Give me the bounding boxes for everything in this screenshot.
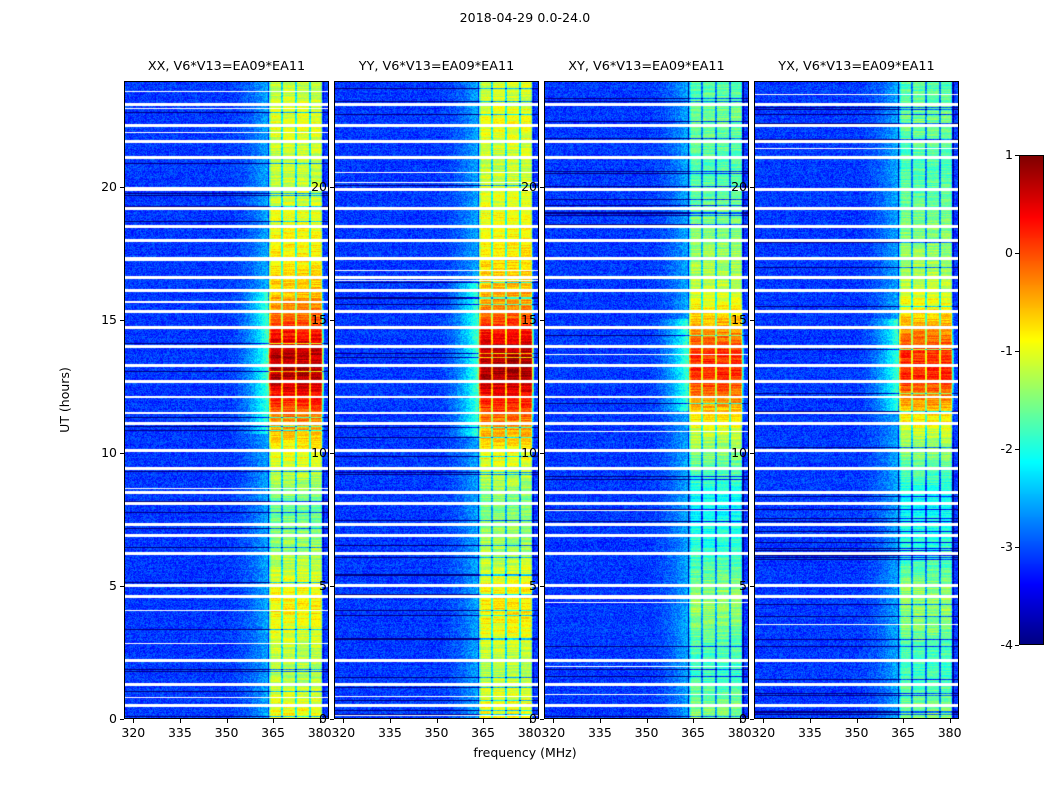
colorbar-tick-label--1: -1 <box>971 343 1013 358</box>
x-tick-mark <box>903 719 904 723</box>
y-tick-mark <box>750 586 754 587</box>
y-axis-label: UT (hours) <box>57 367 72 433</box>
x-tick-mark <box>483 719 484 723</box>
x-tick-label-365: 365 <box>463 725 503 740</box>
y-tick-label-0: 0 <box>504 711 537 726</box>
x-tick-mark <box>343 719 344 723</box>
colorbar-tick-label--2: -2 <box>971 441 1013 456</box>
panel-title-yy: YY, V6*V13=EA09*EA11 <box>334 59 539 74</box>
colorbar-tick-mark <box>1015 253 1019 254</box>
colorbar-tick-mark <box>1015 155 1019 156</box>
y-tick-label-15: 15 <box>294 312 327 327</box>
y-tick-label-10: 10 <box>714 445 747 460</box>
x-tick-label-320: 320 <box>533 725 573 740</box>
y-tick-label-5: 5 <box>714 578 747 593</box>
x-tick-mark <box>227 719 228 723</box>
y-tick-mark <box>750 719 754 720</box>
panel-title-yx: YX, V6*V13=EA09*EA11 <box>754 59 959 74</box>
y-tick-mark <box>750 320 754 321</box>
colorbar-tick-mark <box>1015 645 1019 646</box>
colorbar-tick-label-0: 0 <box>971 245 1013 260</box>
x-tick-mark <box>810 719 811 723</box>
y-tick-label-10: 10 <box>84 445 117 460</box>
x-tick-mark <box>273 719 274 723</box>
x-tick-label-320: 320 <box>743 725 783 740</box>
x-tick-label-380: 380 <box>930 725 970 740</box>
x-tick-mark <box>553 719 554 723</box>
x-tick-label-335: 335 <box>790 725 830 740</box>
y-tick-mark <box>120 719 124 720</box>
x-tick-label-335: 335 <box>580 725 620 740</box>
y-tick-mark <box>540 719 544 720</box>
x-tick-mark <box>857 719 858 723</box>
y-tick-label-15: 15 <box>84 312 117 327</box>
y-tick-label-15: 15 <box>714 312 747 327</box>
y-tick-label-20: 20 <box>504 179 537 194</box>
x-tick-mark <box>950 719 951 723</box>
y-tick-mark <box>330 453 334 454</box>
y-tick-mark <box>540 586 544 587</box>
panel-title-xy: XY, V6*V13=EA09*EA11 <box>544 59 749 74</box>
colorbar-tick-label--3: -3 <box>971 539 1013 554</box>
y-tick-mark <box>540 453 544 454</box>
waterfall-panel-xx[interactable] <box>124 81 329 719</box>
y-tick-mark <box>120 187 124 188</box>
colorbar-tick-label-1: 1 <box>971 147 1013 162</box>
x-tick-mark <box>437 719 438 723</box>
x-tick-label-335: 335 <box>370 725 410 740</box>
colorbar-tick-mark <box>1015 449 1019 450</box>
colorbar-tick-label--4: -4 <box>971 637 1013 652</box>
y-tick-label-10: 10 <box>294 445 327 460</box>
x-tick-mark <box>693 719 694 723</box>
y-tick-mark <box>120 453 124 454</box>
y-tick-mark <box>330 586 334 587</box>
x-tick-mark <box>763 719 764 723</box>
colorbar-tick-mark <box>1015 547 1019 548</box>
y-tick-label-20: 20 <box>84 179 117 194</box>
x-tick-mark <box>390 719 391 723</box>
y-tick-mark <box>540 320 544 321</box>
x-tick-label-335: 335 <box>160 725 200 740</box>
colorbar-tick-mark <box>1015 351 1019 352</box>
y-tick-mark <box>120 320 124 321</box>
x-tick-mark <box>133 719 134 723</box>
y-tick-label-15: 15 <box>504 312 537 327</box>
y-tick-label-10: 10 <box>504 445 537 460</box>
x-tick-label-350: 350 <box>417 725 457 740</box>
panel-title-xx: XX, V6*V13=EA09*EA11 <box>124 59 329 74</box>
y-tick-mark <box>540 187 544 188</box>
x-tick-mark <box>647 719 648 723</box>
y-tick-label-0: 0 <box>714 711 747 726</box>
y-tick-label-20: 20 <box>714 179 747 194</box>
figure-canvas: 2018-04-29 0.0-24.0 XX, V6*V13=EA09*EA11… <box>0 0 1050 800</box>
x-tick-label-350: 350 <box>837 725 877 740</box>
x-tick-label-365: 365 <box>883 725 923 740</box>
x-tick-label-365: 365 <box>253 725 293 740</box>
y-tick-label-20: 20 <box>294 179 327 194</box>
waterfall-panel-yx[interactable] <box>754 81 959 719</box>
y-tick-label-5: 5 <box>504 578 537 593</box>
y-tick-label-0: 0 <box>294 711 327 726</box>
y-tick-mark <box>750 453 754 454</box>
x-tick-label-365: 365 <box>673 725 713 740</box>
y-tick-label-5: 5 <box>294 578 327 593</box>
x-tick-mark <box>600 719 601 723</box>
y-tick-label-0: 0 <box>84 711 117 726</box>
x-tick-mark <box>180 719 181 723</box>
x-tick-label-350: 350 <box>207 725 247 740</box>
y-tick-label-5: 5 <box>84 578 117 593</box>
x-tick-label-320: 320 <box>323 725 363 740</box>
y-tick-mark <box>120 586 124 587</box>
figure-suptitle: 2018-04-29 0.0-24.0 <box>0 10 1050 25</box>
y-tick-mark <box>330 187 334 188</box>
y-tick-mark <box>330 719 334 720</box>
x-tick-label-350: 350 <box>627 725 667 740</box>
waterfall-panel-yy[interactable] <box>334 81 539 719</box>
waterfall-panel-xy[interactable] <box>544 81 749 719</box>
x-tick-label-320: 320 <box>113 725 153 740</box>
y-tick-mark <box>750 187 754 188</box>
colorbar[interactable] <box>1019 155 1044 645</box>
y-tick-mark <box>330 320 334 321</box>
x-axis-label: frequency (MHz) <box>0 745 1050 760</box>
